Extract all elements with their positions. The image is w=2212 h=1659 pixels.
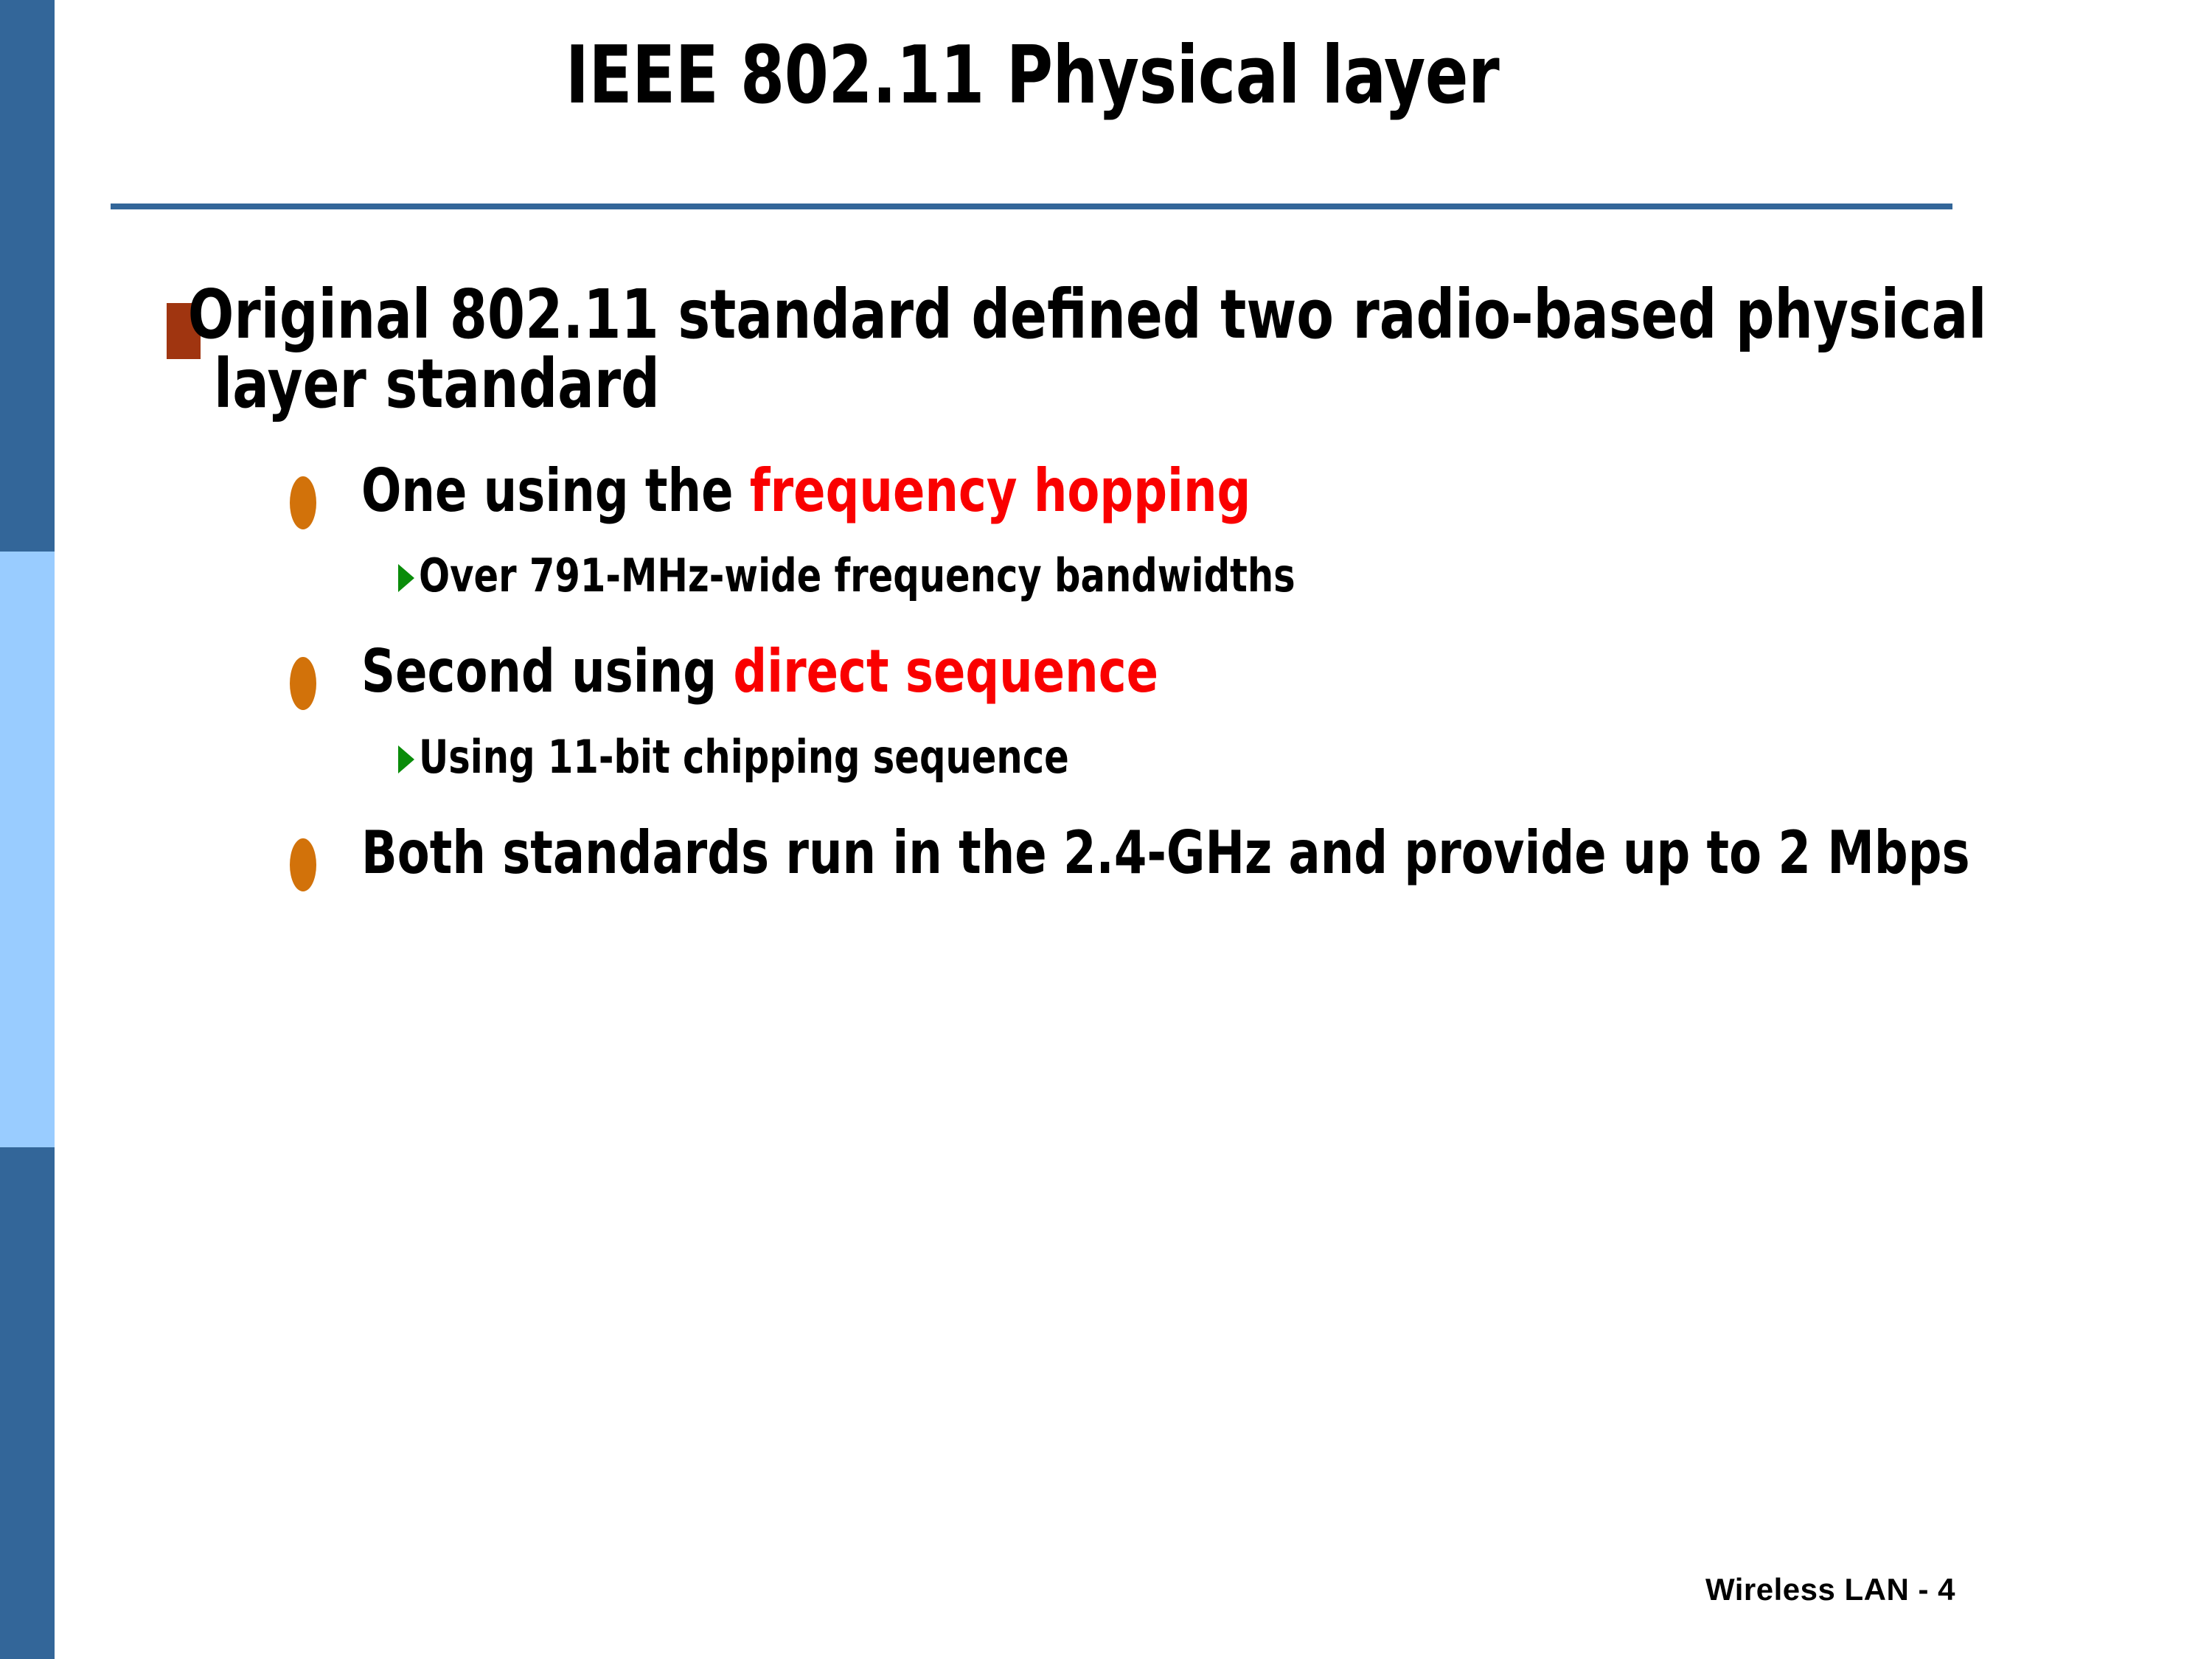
slide-body: Original 802.11 standard defined two rad… [0,280,2212,883]
bullet-level1-item: Original 802.11 standard defined two rad… [0,280,2212,419]
sidebar-segment-bottom [0,1147,55,1659]
bullet-level2-text: Second using direct sequence [361,641,2072,702]
bullet-level2-text: Both standards run in the 2.4-GHz and pr… [361,822,2072,883]
triangle-bullet-icon [398,745,414,773]
bullet-text-highlight: direct sequence [733,637,1158,706]
bullet-text-plain: Second using [361,637,733,706]
bullet-level2-item-direct-sequence: Second using direct sequence [0,641,2212,702]
round-bullet-icon [290,838,316,891]
bullet-level3-text: Using 11-bit chipping sequence [419,734,2072,781]
bullet-level3-item-bandwidths: Over 791-MHz-wide frequency bandwidths [0,552,2212,599]
round-bullet-icon [290,657,316,710]
title-divider-rule [111,204,1952,209]
bullet-level2-text: One using the frequency hopping [361,460,2072,521]
bullet-level3-item-chipping-sequence: Using 11-bit chipping sequence [0,734,2212,781]
bullet-text-plain: One using the [361,456,750,525]
bullet-text-highlight: frequency hopping [750,456,1251,525]
round-bullet-icon [290,476,316,529]
page-title: IEEE 802.11 Physical layer [295,34,1770,118]
bullet-level2-item-frequency-hopping: One using the frequency hopping [0,460,2212,521]
bullet-level1-text: Original 802.11 standard defined two rad… [214,280,2068,419]
triangle-bullet-icon [398,564,414,592]
slide-canvas: IEEE 802.11 Physical layer Original 802.… [0,0,2212,1659]
bullet-level2-item-both-standards: Both standards run in the 2.4-GHz and pr… [0,822,2212,883]
slide-footer: Wireless LAN - 4 [1705,1572,1955,1607]
title-area: IEEE 802.11 Physical layer [111,34,1954,118]
bullet-level3-text: Over 791-MHz-wide frequency bandwidths [419,552,2072,599]
